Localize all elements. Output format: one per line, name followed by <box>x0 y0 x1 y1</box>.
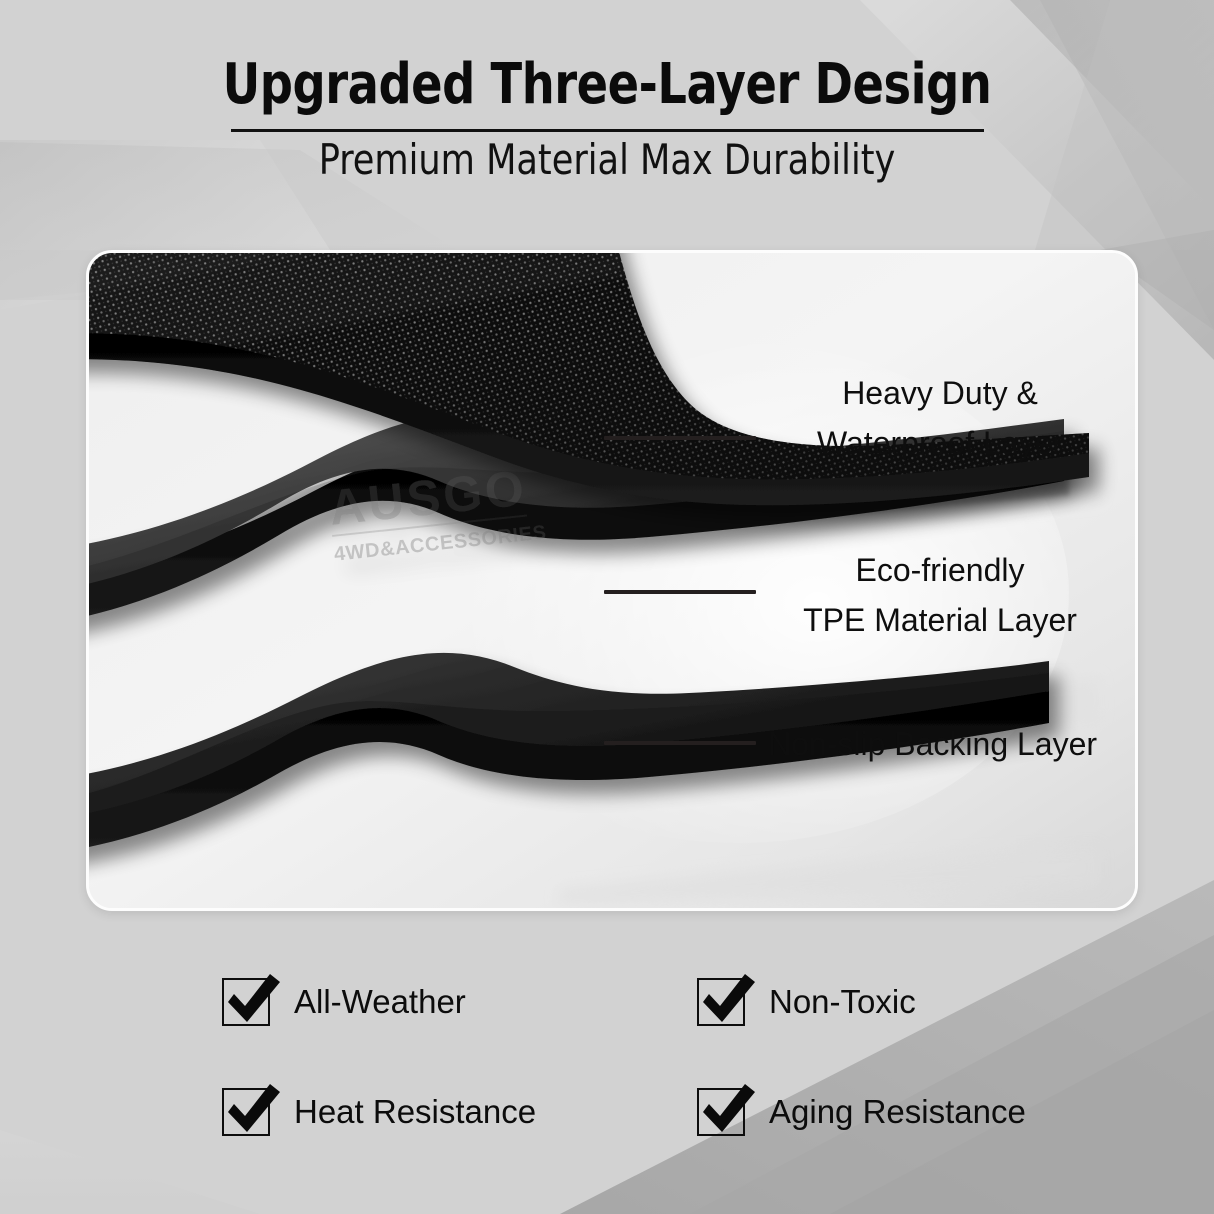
check-icon <box>220 1078 286 1140</box>
feature-label: Non-Toxic <box>769 983 916 1021</box>
feature-non-toxic[interactable]: Non-Toxic <box>697 978 916 1026</box>
callout-text-2-line1: Eco-friendly <box>790 548 1090 592</box>
checkbox-non-toxic[interactable] <box>697 978 745 1026</box>
header: Upgraded Three-Layer Design Premium Mate… <box>0 0 1214 183</box>
feature-all-weather[interactable]: All-Weather <box>222 978 466 1026</box>
checkbox-all-weather[interactable] <box>222 978 270 1026</box>
callout-text-1-line2: Waterproof Layer <box>790 421 1090 465</box>
callout-leader-line-1 <box>604 436 756 440</box>
callout-text-3-line1: Non-slip Backing Layer <box>768 722 1108 766</box>
feature-heat-resistance[interactable]: Heat Resistance <box>222 1088 536 1136</box>
check-icon <box>695 968 761 1030</box>
page-subtitle: Premium Material Max Durability <box>42 115 1171 183</box>
feature-aging-resistance[interactable]: Aging Resistance <box>697 1088 1026 1136</box>
feature-label: Aging Resistance <box>769 1093 1026 1131</box>
check-icon <box>220 968 286 1030</box>
checkbox-aging-resistance[interactable] <box>697 1088 745 1136</box>
feature-label: Heat Resistance <box>294 1093 536 1131</box>
page-title: Upgraded Three-Layer Design <box>49 0 1166 115</box>
check-icon <box>695 1078 761 1140</box>
checkbox-heat-resistance[interactable] <box>222 1088 270 1136</box>
callout-text-1-line1: Heavy Duty & <box>790 371 1090 415</box>
callout-text-2-line2: TPE Material Layer <box>790 598 1090 642</box>
callout-leader-line-3 <box>604 741 756 745</box>
feature-label: All-Weather <box>294 983 466 1021</box>
callout-leader-line-2 <box>604 590 756 594</box>
